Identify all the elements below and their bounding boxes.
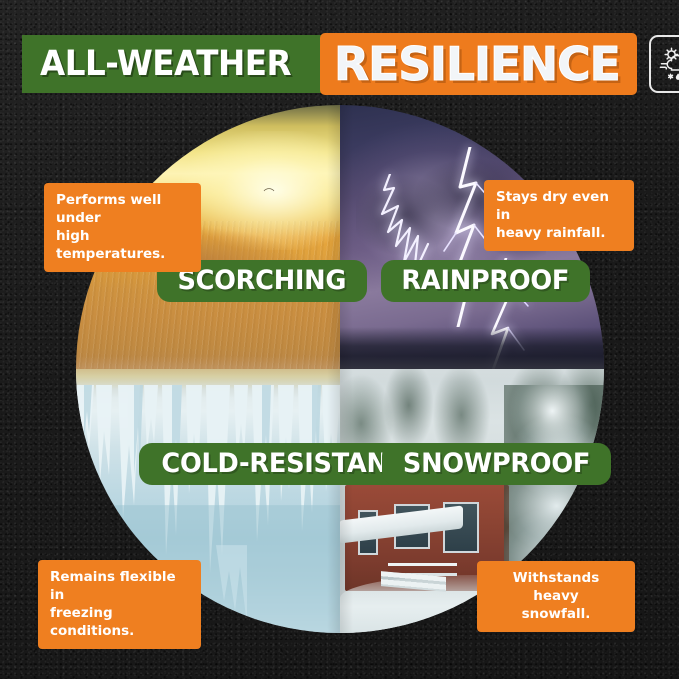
label-rainproof-text: RAINPROOF xyxy=(401,265,569,296)
callout-rainproof: Stays dry even in heavy rainfall. xyxy=(484,180,634,251)
title-part-one: ALL-WEATHER xyxy=(40,44,291,84)
callout-scorching: Performs well under high temperatures. xyxy=(44,183,201,272)
infographic-canvas: ALL-WEATHER RESILIENCE xyxy=(0,0,679,679)
title-part-two: RESILIENCE xyxy=(334,37,620,91)
header-banner: ALL-WEATHER RESILIENCE xyxy=(22,33,658,95)
storm-treeline xyxy=(340,327,604,369)
callout-cold-resistant: Remains flexible in freezing conditions. xyxy=(38,560,201,649)
bird-silhouette: ︵ xyxy=(263,184,277,191)
callout-rainproof-text: Stays dry even in heavy rainfall. xyxy=(496,188,622,242)
label-snowproof: SNOWPROOF xyxy=(382,443,611,485)
callout-snowproof-text: Withstands heavy snowfall. xyxy=(489,569,623,623)
callout-snowproof: Withstands heavy snowfall. xyxy=(477,561,635,632)
sun-glow xyxy=(182,131,340,250)
label-snowproof-text: SNOWPROOF xyxy=(403,448,590,479)
label-scorching-text: SCORCHING xyxy=(177,265,346,296)
label-rainproof: RAINPROOF xyxy=(381,260,590,302)
title-green-block: ALL-WEATHER xyxy=(22,35,326,93)
weather-sun-cloud-rain-snow-wind-icon xyxy=(649,35,679,93)
title-orange-block: RESILIENCE xyxy=(320,33,637,95)
callout-scorching-text: Performs well under high temperatures. xyxy=(56,191,189,263)
callout-cold-resistant-text: Remains flexible in freezing conditions. xyxy=(50,568,189,640)
label-cold-resistant-text: COLD-RESISTANT xyxy=(161,448,404,479)
